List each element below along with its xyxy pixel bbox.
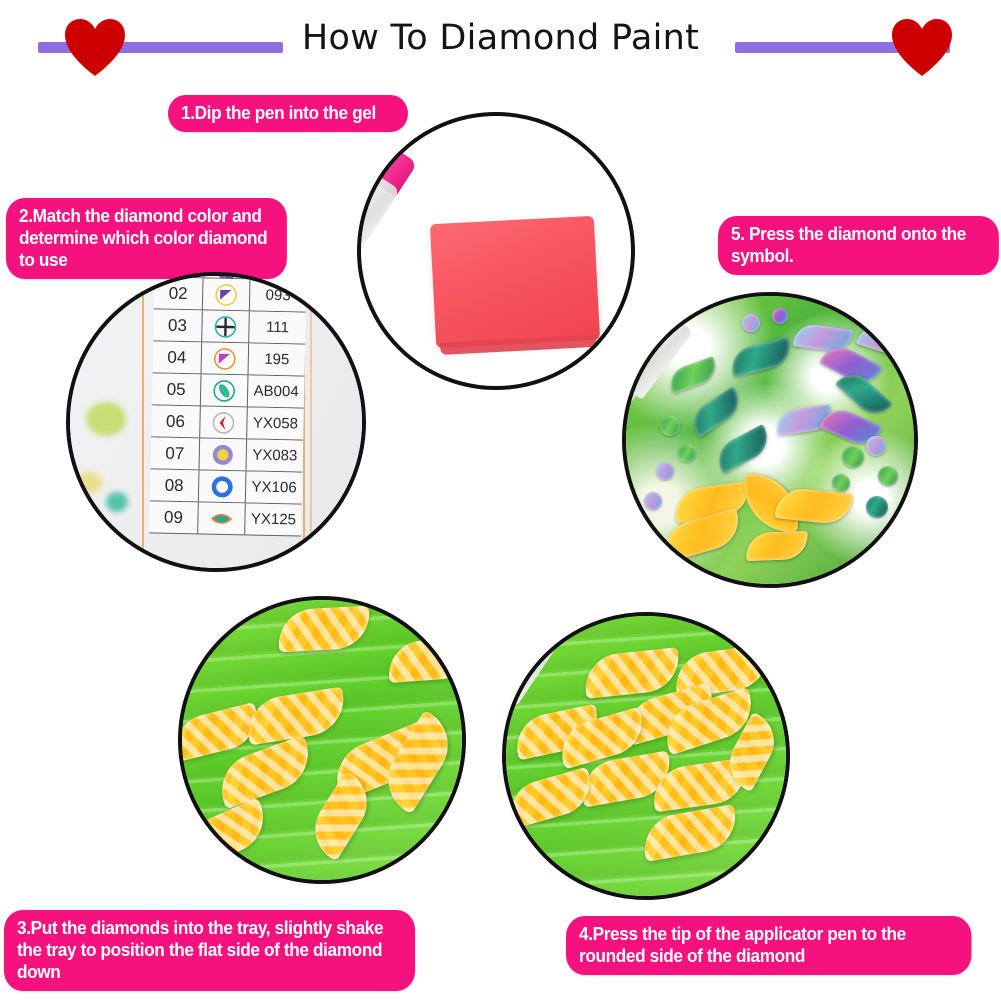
- legend-symbol: [202, 310, 250, 342]
- table-row: 06YX058: [151, 405, 304, 440]
- legend-symbol: [200, 438, 248, 470]
- canvas-print-blob: [76, 472, 102, 494]
- photo5-scene: [626, 296, 914, 584]
- rhinestone: [644, 492, 662, 510]
- canvas-print-blob: [106, 492, 128, 512]
- step-label-4: 4.Press the tip of the applicator pen to…: [566, 916, 971, 975]
- legend-number: AB004: [248, 375, 305, 407]
- legend-number: YX106: [246, 471, 303, 503]
- photo1-scene: [361, 116, 631, 386]
- triangle-in-circle-icon: [214, 282, 238, 306]
- legend-number: YX083: [246, 439, 303, 471]
- legend-symbol: [199, 470, 247, 502]
- table-row: 07YX083: [150, 437, 303, 472]
- photo2-scene: 02802093031110419505AB00406YX05807YX0830…: [70, 276, 362, 568]
- photo-diamonds-in-tray: [178, 596, 466, 884]
- legend-symbol: [202, 342, 250, 374]
- rhinestone: [842, 446, 864, 468]
- legend-code: 05: [152, 373, 202, 405]
- canvas-print-blob: [86, 402, 126, 436]
- step-label-5: 5. Press the diamond onto the symbol.: [718, 216, 999, 275]
- page-title: How To Diamond Paint: [0, 18, 1001, 58]
- ring-icon: [210, 474, 234, 498]
- table-row: 09YX125: [149, 501, 302, 536]
- legend-symbol: [203, 278, 251, 310]
- dot-in-ring-icon: [211, 442, 235, 466]
- rhinestone: [866, 496, 888, 518]
- page-header: How To Diamond Paint: [0, 0, 1001, 90]
- legend-number: 093: [250, 279, 307, 311]
- legend-code: 09: [149, 501, 199, 533]
- rhinestone: [678, 444, 696, 462]
- rhinestone: [772, 308, 788, 324]
- rhinestone: [832, 474, 850, 492]
- chart-guide-line-left: [142, 286, 144, 571]
- legend-code: 02: [154, 277, 204, 309]
- table-row: 02093: [154, 277, 307, 312]
- legend-symbol: [200, 406, 248, 438]
- photo-press-diamond-onto-symbol: [622, 292, 918, 588]
- legend-code: 08: [150, 469, 200, 501]
- chart-guide-line-right-2: [310, 282, 312, 570]
- rhinestone: [866, 436, 886, 456]
- gel-pad: [430, 216, 600, 348]
- legend-number: 111: [249, 311, 306, 343]
- canvas-print-blob: [82, 524, 116, 550]
- legend-number: 195: [249, 343, 306, 375]
- photo-color-chart: 02802093031110419505AB00406YX05807YX0830…: [66, 272, 366, 572]
- legend-code: 07: [151, 437, 201, 469]
- color-legend-table: 02802093031110419505AB00406YX05807YX0830…: [149, 272, 307, 537]
- triangle-in-circle-icon: [213, 346, 237, 370]
- legend-code: 06: [151, 405, 201, 437]
- chevron-in-circle-icon: [211, 410, 235, 434]
- leaf-icon: [209, 506, 233, 530]
- photo-pen-tip-on-diamond: [502, 612, 790, 900]
- table-row: 03111: [153, 309, 306, 344]
- rhinestone: [660, 416, 680, 436]
- table-row: 08YX106: [150, 469, 303, 504]
- step-label-2: 2.Match the diamond color and determine …: [6, 198, 287, 279]
- legend-code: 03: [153, 309, 203, 341]
- table-row: 05AB004: [152, 373, 305, 408]
- legend-number: YX125: [245, 503, 302, 535]
- photo4-scene: [506, 616, 786, 896]
- legend-code: 04: [153, 341, 203, 373]
- plus-in-circle-icon: [213, 314, 237, 338]
- table-row: 04195: [153, 341, 306, 376]
- photo3-scene: [182, 600, 462, 880]
- rhinestone: [656, 462, 674, 480]
- ellipse-in-circle-icon: [212, 378, 236, 402]
- rhinestone: [878, 466, 898, 486]
- legend-symbol: [198, 502, 246, 534]
- step-label-3: 3.Put the diamonds into the tray, slight…: [4, 910, 415, 991]
- photo-dip-pen-into-gel: [357, 112, 635, 390]
- rhinestone: [742, 314, 760, 332]
- legend-symbol: [201, 374, 249, 406]
- legend-number: YX058: [247, 407, 304, 439]
